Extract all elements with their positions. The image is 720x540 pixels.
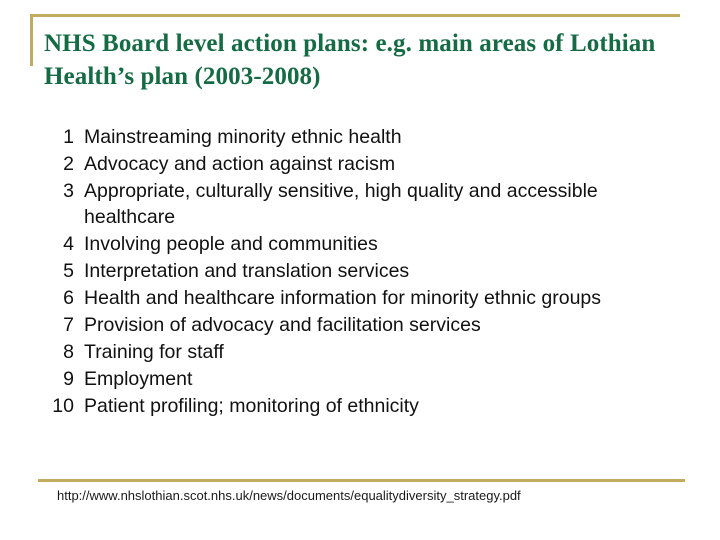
list-item-label: Involving people and communities <box>74 232 688 258</box>
accent-rule-top <box>30 14 680 17</box>
list-item-number: 7 <box>48 313 74 339</box>
list-item-number: 4 <box>48 232 74 258</box>
list-item-number: 1 <box>48 125 74 151</box>
page-title: NHS Board level action plans: e.g. main … <box>44 27 664 93</box>
list-item: 9 Employment <box>48 367 688 393</box>
list-item-number: 10 <box>48 394 74 420</box>
action-plan-list: 1 Mainstreaming minority ethnic health 2… <box>48 125 688 421</box>
list-item-label: Interpretation and translation services <box>74 259 688 285</box>
accent-rule-left <box>30 14 33 66</box>
list-item-label: Health and healthcare information for mi… <box>74 286 676 312</box>
slide: NHS Board level action plans: e.g. main … <box>0 0 720 540</box>
list-item-number: 5 <box>48 259 74 285</box>
source-url[interactable]: http://www.nhslothian.scot.nhs.uk/news/d… <box>57 488 521 504</box>
list-item-label: Patient profiling; monitoring of ethnici… <box>74 394 688 420</box>
list-item: 6 Health and healthcare information for … <box>48 286 688 312</box>
list-item: 4 Involving people and communities <box>48 232 688 258</box>
list-item: 3 Appropriate, culturally sensitive, hig… <box>48 179 688 230</box>
list-item-label: Mainstreaming minority ethnic health <box>74 125 688 151</box>
list-item: 10 Patient profiling; monitoring of ethn… <box>48 394 688 420</box>
list-item-number: 6 <box>48 286 74 312</box>
list-item-label: Provision of advocacy and facilitation s… <box>74 313 688 339</box>
list-item-number: 8 <box>48 340 74 366</box>
list-item: 7 Provision of advocacy and facilitation… <box>48 313 688 339</box>
list-item-label: Appropriate, culturally sensitive, high … <box>74 179 659 230</box>
list-item: 1 Mainstreaming minority ethnic health <box>48 125 688 151</box>
list-item-label: Employment <box>74 367 688 393</box>
list-item-label: Advocacy and action against racism <box>74 152 688 178</box>
list-item: 5 Interpretation and translation service… <box>48 259 688 285</box>
list-item: 8 Training for staff <box>48 340 688 366</box>
list-item-number: 2 <box>48 152 74 178</box>
accent-rule-footer <box>38 479 685 482</box>
list-item: 2 Advocacy and action against racism <box>48 152 688 178</box>
list-item-number: 3 <box>48 179 74 205</box>
list-item-number: 9 <box>48 367 74 393</box>
list-item-label: Training for staff <box>74 340 688 366</box>
